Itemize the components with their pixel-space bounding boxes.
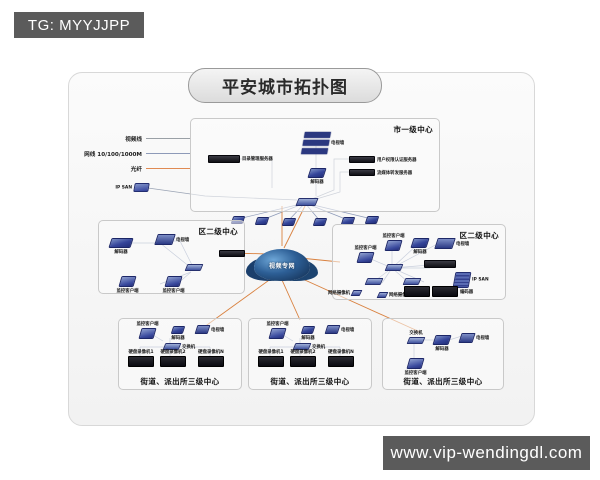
tv-wall-icon	[301, 130, 332, 156]
client-icon	[356, 252, 374, 263]
node-encoder-right-1[interactable]	[404, 286, 430, 297]
node-dvr-street-2-a[interactable]: 硬盘录像机1	[258, 356, 284, 367]
node-label: 编码器	[460, 289, 473, 295]
dvr-icon	[328, 356, 354, 367]
dvr-icon	[258, 356, 284, 367]
server-icon	[424, 260, 456, 268]
node-label: 监控客户端	[163, 288, 185, 294]
node-label: 解码器	[114, 249, 127, 255]
client-icon	[384, 240, 402, 251]
tv-wall-icon	[195, 325, 211, 334]
switch-icon	[385, 264, 404, 271]
node-dvr-street-2-c[interactable]: 硬盘录像机N	[328, 356, 354, 367]
node-switch-district-right[interactable]	[386, 264, 402, 271]
node-label: 硬盘录像机N	[328, 349, 354, 355]
ipsan-icon	[133, 183, 150, 192]
decoder-icon	[108, 238, 133, 248]
node-dvr-street-1-c[interactable]: 硬盘录像机N	[198, 356, 224, 367]
node-client-street-2[interactable]: 监控客户端	[270, 328, 285, 339]
decoder-icon	[410, 238, 429, 248]
server-icon	[313, 218, 328, 226]
node-label: 硬盘录像机1	[258, 349, 283, 355]
node-label: 监控客户端	[405, 370, 427, 376]
node-label: 硬盘录像机2	[290, 349, 315, 355]
decoder-icon	[301, 326, 316, 334]
node-tv-wall-district-left[interactable]: 电视墙	[156, 234, 174, 245]
node-label: 硬盘录像机1	[128, 349, 153, 355]
group-title-street-3: 街道、派出所三级中心	[383, 376, 503, 387]
node-camera-right-2[interactable]: 网络摄像机	[378, 292, 387, 298]
node-ip-san-city[interactable]: IP SAN	[134, 183, 149, 192]
dvr-icon	[290, 356, 316, 367]
node-client-street-3[interactable]: 监控客户端	[408, 358, 423, 369]
node-decoder-street-3[interactable]: 解码器	[434, 335, 450, 345]
node-decoder-city[interactable]: 解码器	[309, 168, 325, 178]
server-icon	[208, 155, 240, 163]
node-label: 解码器	[171, 335, 184, 341]
switch-icon	[365, 278, 384, 285]
node-label: 目录管理服务器	[242, 156, 273, 162]
cloud-label: 视频专网	[269, 261, 295, 270]
client-icon	[118, 276, 136, 287]
node-rack-4[interactable]	[314, 218, 326, 226]
switch-icon	[407, 337, 426, 344]
node-tv-wall-street-3[interactable]: 电视墙	[460, 333, 474, 343]
node-rack-2[interactable]	[256, 217, 268, 225]
node-encoder-right-2[interactable]: 编码器	[432, 286, 458, 297]
node-label: 监控客户端	[117, 288, 139, 294]
node-label: 电视墙	[176, 237, 189, 243]
node-edge-server-district-left[interactable]	[219, 250, 245, 257]
node-label: 硬盘录像机N	[198, 349, 224, 355]
group-title-district-right: 区二级中心	[460, 230, 500, 241]
dvr-icon	[128, 356, 154, 367]
group-title-district-left: 区二级中心	[199, 226, 239, 237]
node-access-switch-right-2[interactable]	[404, 278, 420, 285]
node-decoder-district-left[interactable]: 解码器	[110, 238, 132, 248]
node-directory-server[interactable]: 目录管理服务器	[208, 155, 240, 163]
node-label: 解码器	[310, 179, 323, 185]
node-label: 电视墙	[211, 327, 224, 333]
node-label: 监控客户端	[137, 321, 159, 327]
group-title-street-2: 街道、派出所三级中心	[249, 376, 371, 387]
node-dvr-street-1-b[interactable]: 硬盘录像机2	[160, 356, 186, 367]
node-client-district-left-1[interactable]: 监控客户端	[120, 276, 135, 287]
node-label: 解码器	[435, 346, 448, 352]
node-tv-wall-district-right[interactable]: 电视墙	[436, 238, 454, 249]
node-client-street-1[interactable]: 监控客户端	[140, 328, 155, 339]
node-label: 解码器	[413, 249, 426, 255]
dvr-icon	[160, 356, 186, 367]
node-tv-wall-city[interactable]: 电视墙	[303, 130, 329, 156]
node-switch-district-left[interactable]	[186, 264, 202, 271]
node-client-district-right-2[interactable]: 监控客户端	[358, 252, 373, 263]
client-icon	[138, 328, 156, 339]
server-icon	[219, 250, 245, 257]
node-server-district-right[interactable]	[424, 260, 456, 268]
connection-lines	[0, 0, 600, 480]
node-decoder-street-2[interactable]: 解码器	[302, 326, 314, 334]
node-label: IP SAN	[115, 185, 132, 190]
decoder-icon	[307, 168, 326, 178]
node-label: 硬盘录像机2	[160, 349, 185, 355]
node-label: 解码器	[301, 335, 314, 341]
switch-icon	[295, 198, 318, 206]
tv-wall-icon	[154, 234, 176, 245]
node-label: 流媒体转发服务器	[377, 170, 412, 176]
client-icon	[268, 328, 286, 339]
node-dvr-street-2-b[interactable]: 硬盘录像机2	[290, 356, 316, 367]
node-label: 电视墙	[476, 335, 489, 341]
node-decoder-district-right[interactable]: 解码器	[412, 238, 428, 248]
node-label: 监控客户端	[383, 233, 405, 239]
node-rack-6[interactable]	[366, 216, 378, 224]
server-icon	[282, 218, 297, 226]
decoder-icon	[432, 335, 451, 345]
server-icon	[349, 169, 375, 176]
video-private-network-cloud[interactable]: 视频专网	[254, 249, 310, 281]
switch-icon	[185, 264, 204, 271]
node-tv-wall-street-2[interactable]: 电视墙	[326, 325, 339, 334]
node-switch-street-3[interactable]: 交换机	[408, 337, 424, 344]
decoder-icon	[171, 326, 186, 334]
site-watermark-badge: www.vip-wendingdl.com	[383, 436, 590, 470]
client-icon	[164, 276, 182, 287]
node-client-district-right-1[interactable]: 监控客户端	[386, 240, 401, 251]
node-label: 电视墙	[341, 327, 354, 333]
encoder-icon	[432, 286, 458, 297]
node-label: 网络摄像机	[328, 290, 350, 296]
node-label: 电视墙	[456, 241, 469, 247]
server-icon	[255, 217, 270, 225]
group-title-street-1: 街道、派出所三级中心	[119, 376, 241, 387]
node-decoder-street-1[interactable]: 解码器	[172, 326, 184, 334]
node-dvr-street-1-a[interactable]: 硬盘录像机1	[128, 356, 154, 367]
node-camera-right-1[interactable]: 网络摄像机	[352, 290, 361, 296]
node-client-district-left-2[interactable]: 监控客户端	[166, 276, 181, 287]
node-label: 交换机	[409, 330, 422, 336]
node-tv-wall-street-1[interactable]: 电视墙	[196, 325, 209, 334]
client-icon	[406, 358, 424, 369]
node-core-switch-city[interactable]	[297, 198, 317, 206]
server-icon	[349, 156, 375, 163]
node-auth-server[interactable]: 用户权限认证服务器	[349, 156, 375, 163]
tv-wall-icon	[434, 238, 456, 249]
camera-icon	[351, 290, 363, 296]
node-label: IP SAN	[472, 278, 489, 283]
group-title-city: 市一级中心	[394, 124, 434, 135]
camera-icon	[377, 292, 389, 298]
node-label: 监控客户端	[267, 321, 289, 327]
server-icon	[365, 216, 380, 224]
node-streaming-server[interactable]: 流媒体转发服务器	[349, 169, 375, 176]
tv-wall-icon	[325, 325, 341, 334]
node-label: 监控客户端	[355, 245, 377, 251]
group-street-3: 街道、派出所三级中心	[382, 318, 504, 390]
node-label: 用户权限认证服务器	[377, 157, 417, 163]
node-rack-3[interactable]	[283, 218, 295, 226]
node-access-switch-right-1[interactable]	[366, 278, 382, 285]
switch-icon	[403, 278, 422, 285]
encoder-icon	[404, 286, 430, 297]
node-label: 电视墙	[331, 140, 344, 146]
tv-wall-icon	[458, 333, 475, 343]
dvr-icon	[198, 356, 224, 367]
